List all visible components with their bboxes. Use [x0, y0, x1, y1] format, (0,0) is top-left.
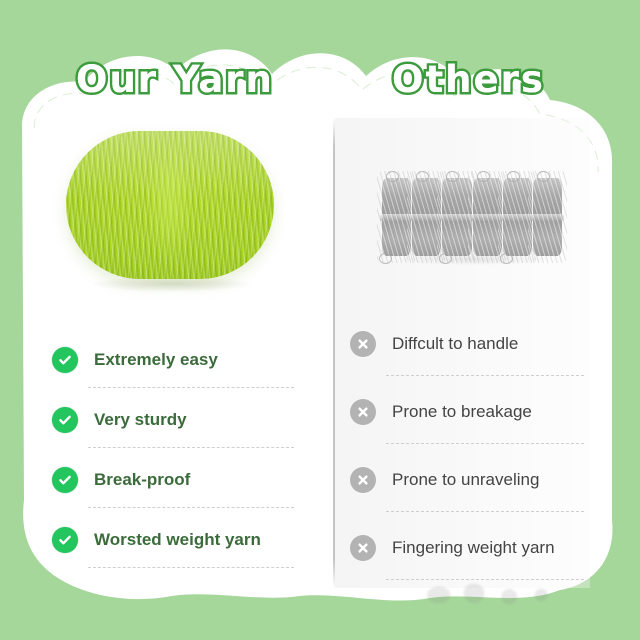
list-item: Prone to unraveling: [350, 446, 578, 514]
column-divider: [333, 118, 335, 588]
gray-yarn-skeins: [382, 178, 562, 256]
background-watermark: [410, 578, 570, 612]
cross-circle-icon: [350, 331, 376, 357]
page-title-our-yarn-fill: Our Yarn: [76, 58, 274, 101]
page-title-others-fill: Others: [392, 58, 545, 101]
list-item-label: Diffcult to handle: [392, 334, 518, 354]
list-item: Worsted weight yarn: [52, 510, 284, 570]
list-item-label: Worsted weight yarn: [94, 530, 261, 550]
list-item-label: Prone to breakage: [392, 402, 532, 422]
check-circle-icon: [52, 347, 78, 373]
list-item-divider: [88, 387, 294, 388]
cross-circle-icon: [350, 467, 376, 493]
others-feature-list: Diffcult to handle Prone to breakage: [350, 310, 578, 582]
list-item-label: Very sturdy: [94, 410, 187, 430]
list-item: Extremely easy: [52, 330, 284, 390]
list-item: Diffcult to handle: [350, 310, 578, 378]
list-item-label: Break-proof: [94, 470, 190, 490]
check-circle-icon: [52, 527, 78, 553]
list-item-label: Prone to unraveling: [392, 470, 539, 490]
check-circle-icon: [52, 467, 78, 493]
list-item-divider: [386, 443, 584, 444]
check-circle-icon: [52, 407, 78, 433]
list-item-label: Extremely easy: [94, 350, 218, 370]
list-item-divider: [88, 507, 294, 508]
list-item-divider: [386, 375, 584, 376]
comparison-infographic: Our Yarn Our Yarn Others Others: [0, 0, 640, 640]
list-item: Fingering weight yarn: [350, 514, 578, 582]
list-item-label: Fingering weight yarn: [392, 538, 555, 558]
list-item-divider: [386, 511, 584, 512]
green-yarn-ball: [66, 131, 274, 279]
cross-circle-icon: [350, 535, 376, 561]
cross-circle-icon: [350, 399, 376, 425]
list-item: Prone to breakage: [350, 378, 578, 446]
list-item-divider: [88, 567, 294, 568]
list-item: Very sturdy: [52, 390, 284, 450]
ours-feature-list: Extremely easy Very sturdy Bre: [52, 330, 284, 570]
list-item-divider: [88, 447, 294, 448]
list-item: Break-proof: [52, 450, 284, 510]
